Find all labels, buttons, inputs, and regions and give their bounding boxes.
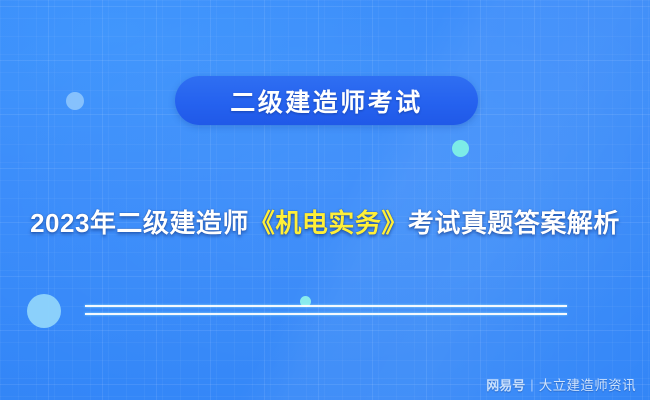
- divider-line-top: [85, 305, 567, 307]
- decorative-dot-upper-left: [66, 92, 84, 110]
- watermark-account-name: 大立建造师资讯: [539, 374, 636, 394]
- watermark: 网易号 | 大立建造师资讯: [486, 374, 636, 394]
- headline-prefix: 2023年二级建造师: [30, 208, 249, 238]
- promo-poster: 二级建造师考试 2023年二级建造师《机电实务》考试真题答案解析 网易号 | 大…: [0, 0, 650, 400]
- headline-subject-accent: 《机电实务》: [249, 208, 408, 238]
- exam-title-badge-label: 二级建造师考试: [230, 83, 423, 119]
- background-vignette: [0, 0, 650, 400]
- headline-suffix: 考试真题答案解析: [408, 208, 620, 238]
- decorative-dot-lower-left: [27, 294, 61, 328]
- decorative-dot-cyan-right: [452, 140, 469, 157]
- poster-headline: 2023年二级建造师《机电实务》考试真题答案解析: [0, 203, 650, 240]
- watermark-separator: |: [530, 377, 533, 392]
- netease-logo: 网易号: [486, 375, 525, 394]
- exam-title-badge: 二级建造师考试: [175, 76, 478, 125]
- divider-line-bottom: [85, 313, 567, 315]
